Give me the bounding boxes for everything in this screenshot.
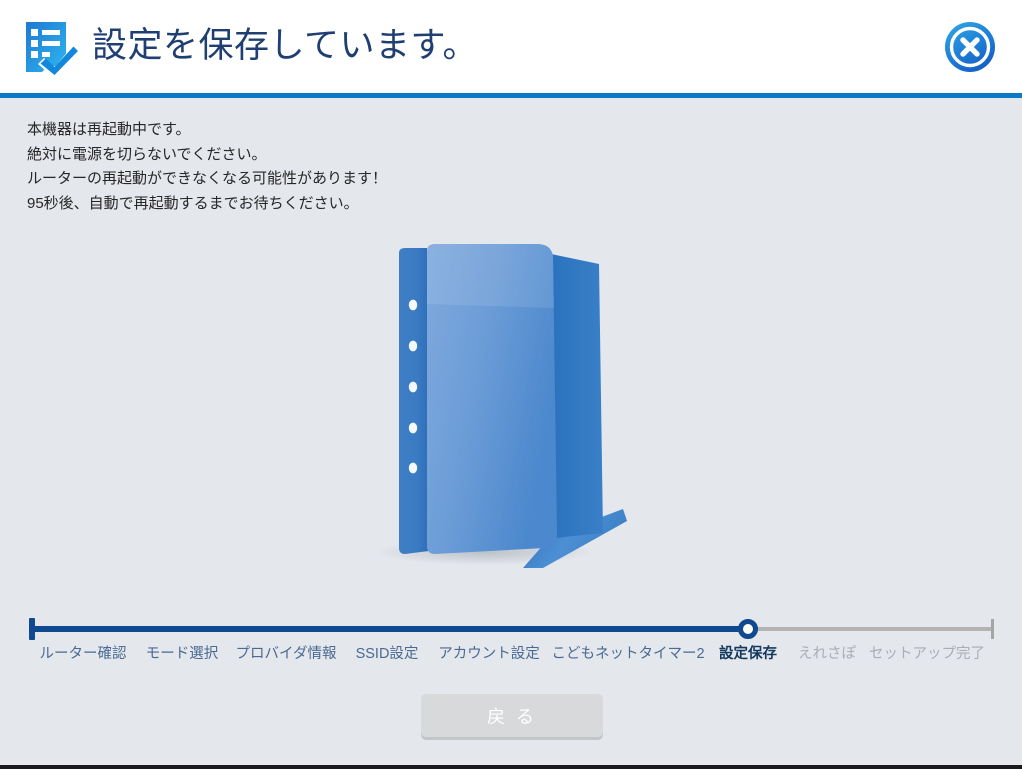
content-area: 本機器は再起動中です。 絶対に電源を切らないでください。 ルーターの再起動ができ… bbox=[0, 98, 1022, 765]
step-setup-complete[interactable]: セットアップ完了 bbox=[857, 643, 997, 665]
progress-knob[interactable] bbox=[738, 619, 758, 639]
progress-end-cap bbox=[991, 619, 994, 639]
step-kids-net-timer[interactable]: こどもネットタイマー2 bbox=[538, 643, 718, 665]
back-button[interactable]: 戻 る bbox=[421, 694, 603, 737]
step-provider-info[interactable]: プロバイダ情報 bbox=[226, 643, 346, 665]
progress-track-completed bbox=[31, 626, 748, 632]
step-router-check[interactable]: ルーター確認 bbox=[22, 643, 144, 665]
notice-line-2: 絶対に電源を切らないでください。 bbox=[27, 143, 727, 168]
notice-line-3: ルーターの再起動ができなくなる可能性があります！ bbox=[27, 167, 727, 192]
notice-line-4: 95秒後、自動で再起動するまでお待ちください。 bbox=[27, 192, 727, 217]
setup-wizard-window: 設定を保存しています。 本機器は再起動中です。 絶対に電源を切らないでください。… bbox=[0, 0, 1022, 769]
window-bottom-edge bbox=[0, 765, 1022, 769]
step-mode-select[interactable]: モード選択 bbox=[131, 643, 233, 665]
window-header: 設定を保存しています。 bbox=[0, 0, 1022, 93]
step-ssid-settings[interactable]: SSID設定 bbox=[340, 643, 434, 665]
notice-line-1: 本機器は再起動中です。 bbox=[27, 118, 727, 143]
settings-saved-document-check-icon bbox=[22, 18, 84, 76]
step-save-settings[interactable]: 設定保存 bbox=[700, 643, 796, 665]
page-title: 設定を保存しています。 bbox=[92, 17, 478, 75]
close-circle-icon[interactable] bbox=[944, 21, 996, 73]
reboot-notice: 本機器は再起動中です。 絶対に電源を切らないでください。 ルーターの再起動ができ… bbox=[27, 118, 727, 216]
wireless-router-illustration bbox=[355, 238, 665, 568]
setup-progress-stepper: ルーター確認 モード選択 プロバイダ情報 SSID設定 アカウント設定 こどもネ… bbox=[0, 613, 1022, 678]
progress-start-cap bbox=[29, 618, 35, 640]
step-label-row: ルーター確認 モード選択 プロバイダ情報 SSID設定 アカウント設定 こどもネ… bbox=[0, 643, 1022, 673]
step-account-settings[interactable]: アカウント設定 bbox=[425, 643, 553, 665]
